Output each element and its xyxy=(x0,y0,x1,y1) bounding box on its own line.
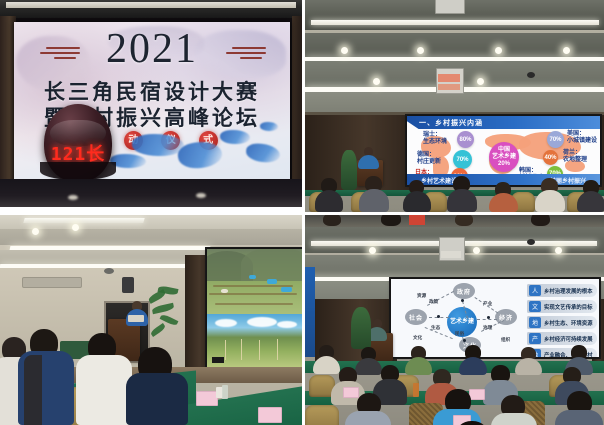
potted-plant xyxy=(351,307,371,349)
stage-floor xyxy=(0,179,302,207)
label-country: 美国： xyxy=(567,131,585,137)
bottle xyxy=(413,383,419,397)
audience-body xyxy=(577,191,604,212)
node-society: 社会 xyxy=(405,309,427,325)
cloud xyxy=(215,319,237,327)
node-government: 政府 xyxy=(453,283,475,299)
speaker-box-icon xyxy=(122,277,134,293)
downlight xyxy=(563,47,570,54)
spoke-label: 治理 xyxy=(483,325,492,331)
panel-bottom-left xyxy=(0,215,302,425)
audience-head xyxy=(323,215,341,226)
floor-spotlight xyxy=(68,195,78,200)
cloud xyxy=(247,317,277,327)
spoke-label: 民俗 xyxy=(455,331,464,337)
screen-logo-plate xyxy=(212,357,224,363)
fence-post xyxy=(225,340,226,360)
blue-ink-stroke xyxy=(260,122,278,131)
spoke-dot xyxy=(461,299,464,302)
bullet-text: 乡村经济可持续发展 xyxy=(544,335,593,343)
downlight xyxy=(495,47,502,54)
grazing-animal xyxy=(221,289,228,293)
ceiling-beam xyxy=(0,0,302,18)
panel-top-left: 2021 长三角民宿设计大赛 暨乡村振兴高峰论坛 启 动 仪 式 121长 xyxy=(0,0,302,207)
bullet-icon: 产 xyxy=(529,333,541,344)
bubble-switzerland: 80% xyxy=(457,131,474,148)
led-wall xyxy=(207,249,302,367)
terrace-line xyxy=(209,293,297,295)
attendee-vest xyxy=(24,355,42,425)
label-topic: 村庄更新 xyxy=(417,159,441,165)
downlight xyxy=(555,247,562,254)
label-topic: 小城镇建设 xyxy=(567,138,597,144)
ceiling-band-mid xyxy=(305,33,604,57)
downlight xyxy=(473,247,480,254)
label-country: 荷兰： xyxy=(563,150,581,156)
name-card xyxy=(258,407,282,423)
spoke-dot xyxy=(487,316,490,319)
blue-tent xyxy=(267,279,277,284)
label-netherlands: 荷兰： 农地整理 xyxy=(563,150,587,164)
downlight xyxy=(369,247,376,254)
audience-body xyxy=(409,215,425,225)
bullet-text: 实现文艺传承的目标 xyxy=(544,303,593,311)
audience-body xyxy=(359,189,389,212)
ceiling-band-mid xyxy=(0,229,302,245)
panel-bottom-right: 政府 社会 经济 文化 艺术乡建 政策 xyxy=(305,215,604,425)
speaker-notes xyxy=(128,315,144,322)
air-vent xyxy=(22,277,82,288)
terrace-line xyxy=(215,303,293,305)
audience-body xyxy=(535,190,565,212)
spoke-dot xyxy=(463,339,466,342)
photo-collage: 2021 长三角民宿设计大赛 暨乡村振兴高峰论坛 启 动 仪 式 121长 xyxy=(0,0,604,425)
label-switzerland: 瑞士： 生态环境 xyxy=(423,132,447,146)
panel-top-right: 一、乡村振兴内涵 80% 70% 80% 中国 艺术乡建 20% 70% 40% xyxy=(305,0,604,212)
floor-spotlight xyxy=(196,193,206,198)
slide-header-bar: 一、乡村振兴内涵 xyxy=(407,116,600,129)
name-card xyxy=(343,387,359,398)
audience-head xyxy=(531,215,550,226)
bullet-icon: 文 xyxy=(529,301,541,312)
ceiling-band-edge xyxy=(305,92,604,114)
spoke-label: 资源 xyxy=(417,293,426,299)
bubble-netherlands: 40% xyxy=(543,150,558,165)
projector-upper xyxy=(435,0,465,14)
plant xyxy=(341,150,357,190)
speaker-body xyxy=(358,155,379,169)
bubble-china-topic: 艺术乡建 xyxy=(492,154,516,161)
name-card xyxy=(196,391,218,406)
downlight xyxy=(341,47,348,54)
bullet-item: 人 乡村治理发展的根本 xyxy=(527,284,597,297)
cloud xyxy=(277,321,297,328)
audience-head xyxy=(455,215,473,226)
projector-vent xyxy=(438,84,460,90)
rural-upper-photo xyxy=(207,249,302,314)
bubble-china: 中国 艺术乡建 20% xyxy=(489,142,519,172)
slide-diagram: 政府 社会 经济 文化 艺术乡建 政策 xyxy=(391,279,599,357)
ceiling-light-strip xyxy=(311,20,599,25)
spoke-dot xyxy=(437,315,440,318)
projection-screen: 政府 社会 经济 文化 艺术乡建 政策 xyxy=(391,279,599,357)
spoke-label: 生态 xyxy=(431,325,440,331)
slide-rural-landscape xyxy=(207,249,302,367)
bubble-china-percent: 20% xyxy=(498,161,510,168)
spoke-label: 文化 xyxy=(413,335,422,341)
bullet-text: 乡村治理发展的根本 xyxy=(544,287,593,295)
bubble-usa: 70% xyxy=(547,131,564,148)
projector-lens xyxy=(441,251,461,258)
attendee-body xyxy=(76,355,132,425)
audience-body xyxy=(403,191,431,212)
bullet-text: 乡村生态、环境资源 xyxy=(544,319,593,327)
audience-head xyxy=(381,215,401,226)
projector-lens-glow xyxy=(438,74,460,82)
label-germany: 德国： 村庄更新 xyxy=(417,152,441,166)
audience-body xyxy=(491,413,537,425)
dome-camera-icon xyxy=(527,72,535,78)
fence-post xyxy=(277,339,278,360)
chair xyxy=(305,405,339,425)
bullet-item: 文 实现文艺传承的目标 xyxy=(527,300,597,313)
fence-post xyxy=(259,340,260,360)
projection-screen: 一、乡村振兴内涵 80% 70% 80% 中国 艺术乡建 20% 70% 40% xyxy=(407,116,600,185)
bullet-item: 地 乡村生态、环境资源 xyxy=(527,316,597,329)
bottle xyxy=(222,385,228,399)
countdown-helmet-prop: 121长 xyxy=(44,104,112,182)
side-banner xyxy=(305,267,315,357)
blue-ink-stroke xyxy=(132,134,184,156)
fence-post xyxy=(241,339,242,360)
dome-camera-icon xyxy=(527,239,535,245)
spoke xyxy=(477,319,497,320)
label-topic: 生态环境 xyxy=(423,139,447,145)
label-country: 瑞士： xyxy=(423,132,441,138)
ceiling-light-strip xyxy=(6,2,296,8)
blue-tent xyxy=(281,287,292,292)
helmet-strap xyxy=(40,162,116,180)
label-topic: 农地整理 xyxy=(563,157,587,163)
audience-body xyxy=(315,190,343,212)
slide-footer-left: 乡村艺术建设 xyxy=(421,176,457,185)
cloud-motif-right xyxy=(226,44,268,58)
label-country: 德国： xyxy=(417,152,435,158)
name-card xyxy=(469,389,485,400)
potted-plant xyxy=(146,287,182,345)
downlight xyxy=(477,78,484,85)
downlight xyxy=(417,47,424,54)
blue-ink-stroke xyxy=(220,130,250,144)
audience-body xyxy=(447,189,477,212)
downlight xyxy=(373,78,380,85)
bubble-china-country: 中国 xyxy=(498,147,510,154)
attendee-body xyxy=(126,373,188,425)
cloud-motif-left xyxy=(40,44,82,58)
audience-body xyxy=(555,410,603,425)
slide-world-map: 一、乡村振兴内涵 80% 70% 80% 中国 艺术乡建 20% 70% 40% xyxy=(407,116,600,185)
spoke-label: 产业 xyxy=(483,301,492,307)
label-usa: 美国： 小城镇建设 xyxy=(567,131,597,145)
audience-body xyxy=(345,411,391,425)
diagram-center-label: 艺术乡建 xyxy=(450,319,474,326)
wall-right-wood xyxy=(292,16,302,186)
spoke-label: 组织 xyxy=(501,337,510,343)
blue-tent xyxy=(249,275,256,279)
bubble-germany: 70% xyxy=(453,150,472,169)
bullet-item: 产 乡村经济可持续发展 xyxy=(527,332,597,345)
ceiling-speaker-icon xyxy=(104,268,114,274)
spoke-label: 政策 xyxy=(429,299,438,305)
bullet-icon: 人 xyxy=(529,285,541,296)
bullet-icon: 地 xyxy=(529,317,541,328)
downlight xyxy=(32,228,39,235)
ceiling-light-strip xyxy=(23,218,144,223)
slide-header-text: 一、乡村振兴内涵 xyxy=(419,118,483,128)
downlight xyxy=(72,224,79,231)
